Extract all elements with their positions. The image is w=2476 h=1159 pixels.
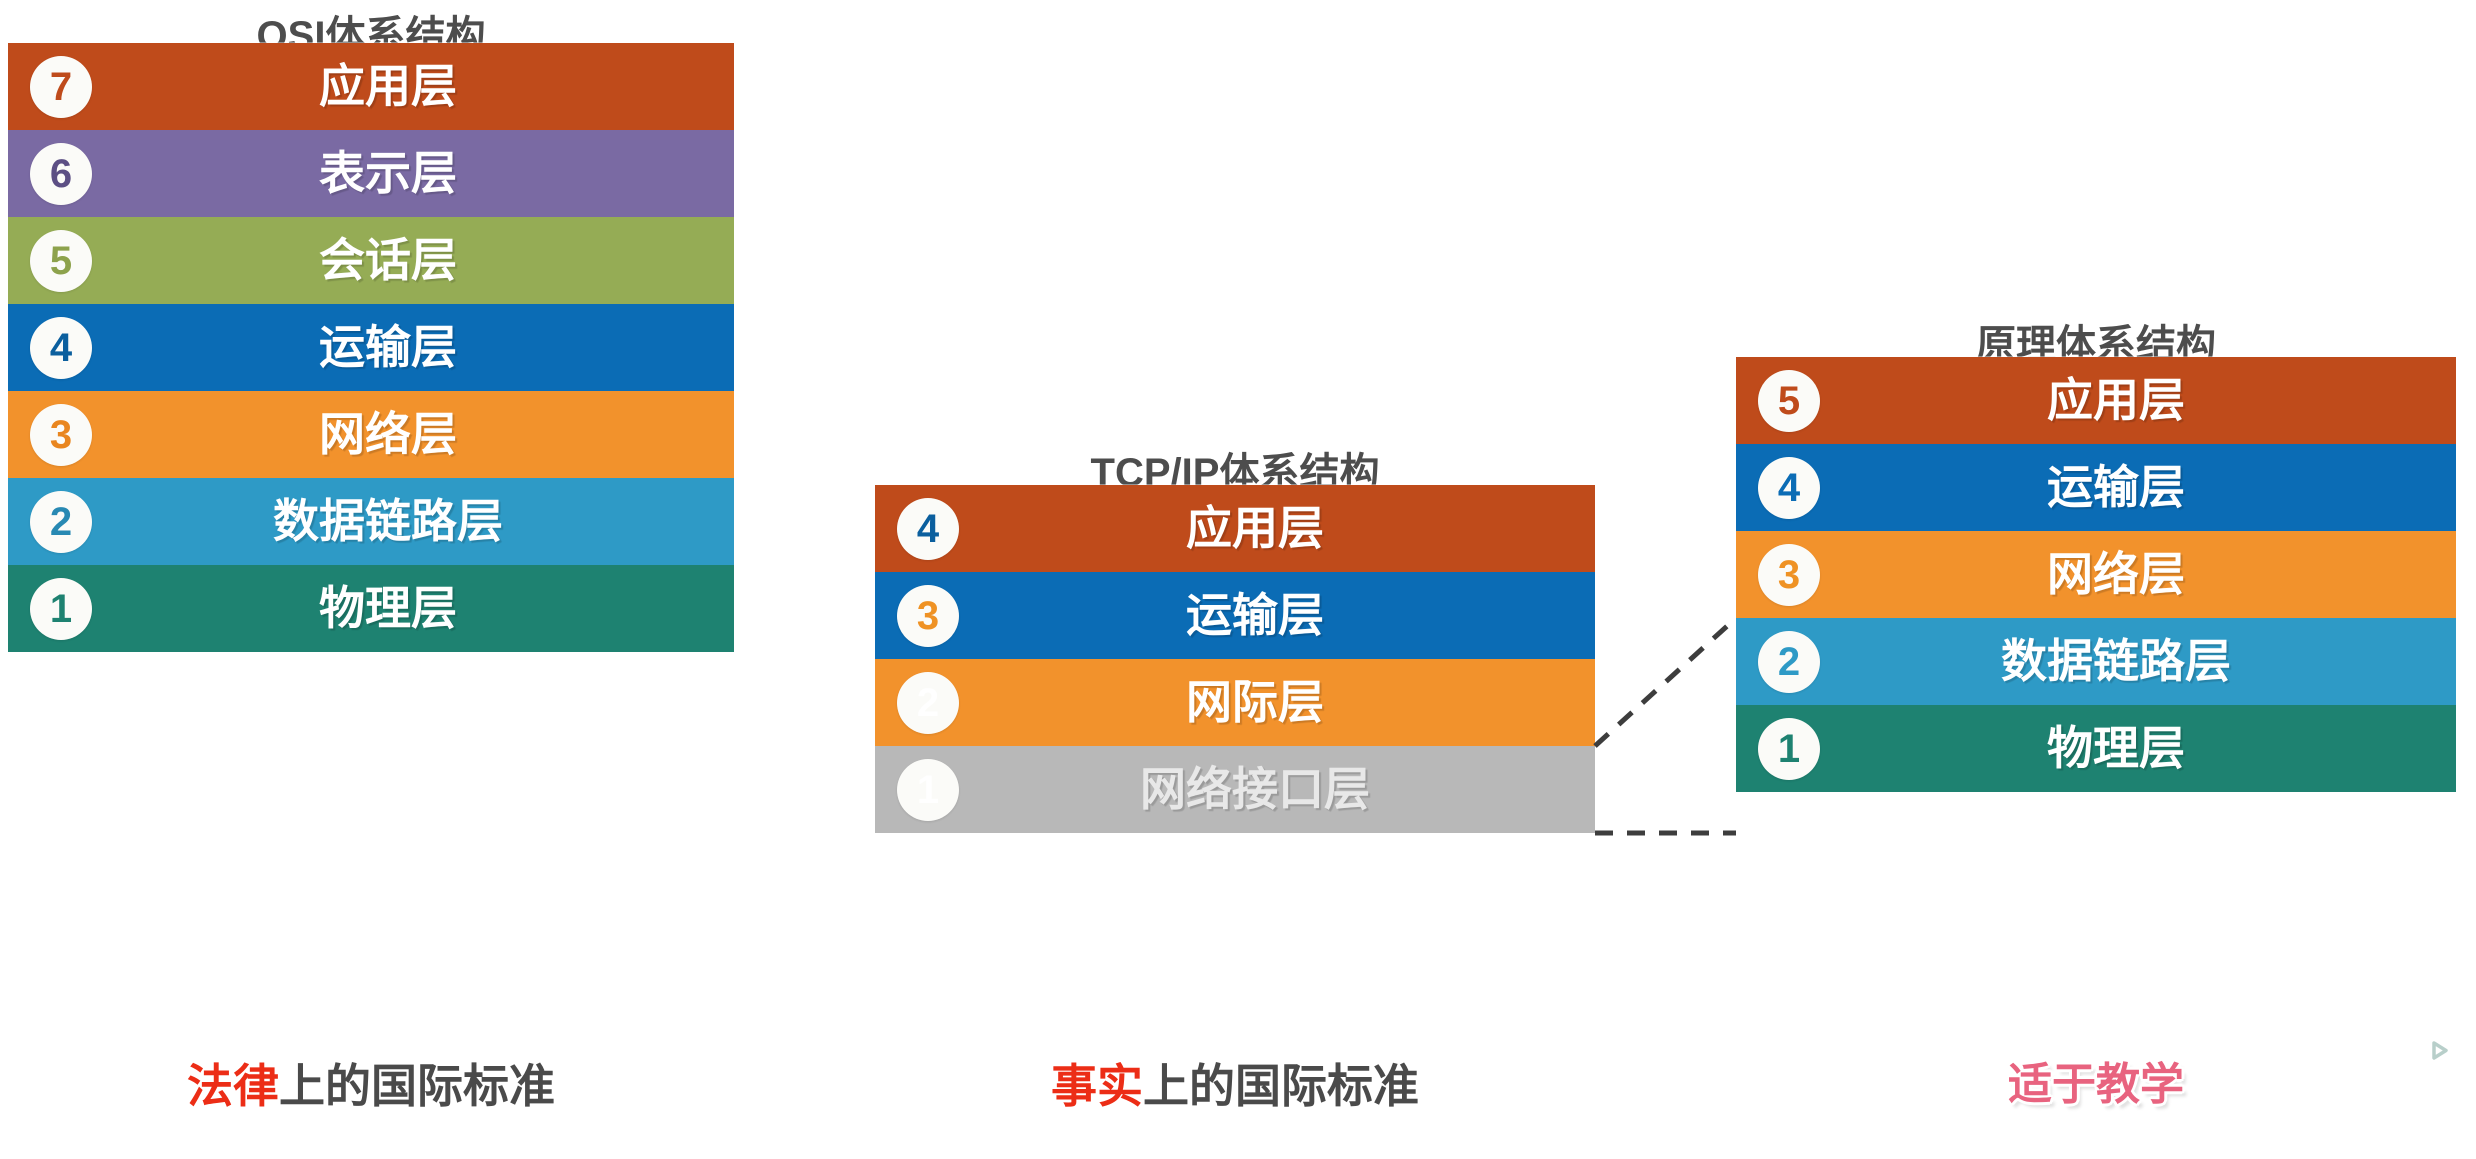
stack-caption-tcpip: 事实上的国际标准 bbox=[875, 1063, 1595, 1109]
layer-label: 数据链路层 bbox=[138, 478, 638, 565]
stack-caption-osi: 法律上的国际标准 bbox=[8, 1063, 734, 1109]
layer-row-osi-5[interactable]: 5会话层 bbox=[8, 217, 734, 304]
layer-label: 应用层 bbox=[1005, 485, 1505, 572]
layer-label: 运输层 bbox=[1866, 444, 2366, 531]
layer-number-badge: 2 bbox=[30, 491, 92, 553]
layer-row-tcpip-3[interactable]: 3运输层 bbox=[875, 572, 1595, 659]
layer-label: 网络接口层 bbox=[1005, 746, 1505, 833]
layer-number-badge: 7 bbox=[30, 56, 92, 118]
layer-label: 运输层 bbox=[138, 304, 638, 391]
layer-label: 应用层 bbox=[1866, 357, 2366, 444]
layer-row-principle-2[interactable]: 2数据链路层 bbox=[1736, 618, 2456, 705]
layer-number-badge: 2 bbox=[897, 672, 959, 734]
layer-number-badge: 3 bbox=[897, 585, 959, 647]
layer-stack-principle: 5应用层4运输层3网络层2数据链路层1物理层 bbox=[1736, 357, 2456, 792]
caption-rest: 上的国际标准 bbox=[279, 1060, 555, 1112]
layer-row-principle-3[interactable]: 3网络层 bbox=[1736, 531, 2456, 618]
layer-label: 网络层 bbox=[1866, 531, 2366, 618]
layer-label: 网络层 bbox=[138, 391, 638, 478]
layer-stack-tcpip: 4应用层3运输层2网际层1网络接口层 bbox=[875, 485, 1595, 833]
layer-row-principle-4[interactable]: 4运输层 bbox=[1736, 444, 2456, 531]
diagonal-dashed-connector bbox=[1595, 618, 1736, 746]
layer-number-badge: 4 bbox=[897, 498, 959, 560]
layer-label: 物理层 bbox=[138, 565, 638, 652]
layer-label: 表示层 bbox=[138, 130, 638, 217]
layer-row-principle-1[interactable]: 1物理层 bbox=[1736, 705, 2456, 792]
layer-label: 物理层 bbox=[1866, 705, 2366, 792]
layer-label: 应用层 bbox=[138, 43, 638, 130]
caption-highlight: 事实 bbox=[1051, 1060, 1143, 1112]
layer-label: 数据链路层 bbox=[1866, 618, 2366, 705]
layer-row-tcpip-4[interactable]: 4应用层 bbox=[875, 485, 1595, 572]
layer-label: 运输层 bbox=[1005, 572, 1505, 659]
layer-number-badge: 3 bbox=[30, 404, 92, 466]
layer-row-osi-2[interactable]: 2数据链路层 bbox=[8, 478, 734, 565]
layer-number-badge: 1 bbox=[30, 578, 92, 640]
layer-number-badge: 1 bbox=[1758, 718, 1820, 780]
layer-number-badge: 3 bbox=[1758, 544, 1820, 606]
layer-number-badge: 6 bbox=[30, 143, 92, 205]
layer-row-osi-1[interactable]: 1物理层 bbox=[8, 565, 734, 652]
caption-rest: 上的国际标准 bbox=[1143, 1060, 1419, 1112]
caption-highlight: 法律 bbox=[187, 1060, 279, 1112]
layer-label: 网际层 bbox=[1005, 659, 1505, 746]
layer-number-badge: 1 bbox=[897, 759, 959, 821]
layer-row-osi-4[interactable]: 4运输层 bbox=[8, 304, 734, 391]
layer-number-badge: 5 bbox=[30, 230, 92, 292]
layer-number-badge: 5 bbox=[1758, 370, 1820, 432]
layer-row-osi-7[interactable]: 7应用层 bbox=[8, 43, 734, 130]
layer-row-osi-3[interactable]: 3网络层 bbox=[8, 391, 734, 478]
layer-row-osi-6[interactable]: 6表示层 bbox=[8, 130, 734, 217]
caption-highlight: 适于教学 bbox=[2008, 1060, 2184, 1109]
layer-number-badge: 4 bbox=[30, 317, 92, 379]
diagram-canvas: OSI体系结构7应用层6表示层5会话层4运输层3网络层2数据链路层1物理层法律上… bbox=[0, 0, 2476, 1159]
tv-play-icon bbox=[2412, 1022, 2464, 1074]
layer-number-badge: 2 bbox=[1758, 631, 1820, 693]
layer-row-tcpip-1[interactable]: 1网络接口层 bbox=[875, 746, 1595, 833]
stack-caption-principle: 适于教学 bbox=[1736, 1063, 2456, 1107]
layer-row-tcpip-2[interactable]: 2网际层 bbox=[875, 659, 1595, 746]
layer-number-badge: 4 bbox=[1758, 457, 1820, 519]
layer-row-principle-5[interactable]: 5应用层 bbox=[1736, 357, 2456, 444]
layer-label: 会话层 bbox=[138, 217, 638, 304]
layer-stack-osi: 7应用层6表示层5会话层4运输层3网络层2数据链路层1物理层 bbox=[8, 43, 734, 652]
